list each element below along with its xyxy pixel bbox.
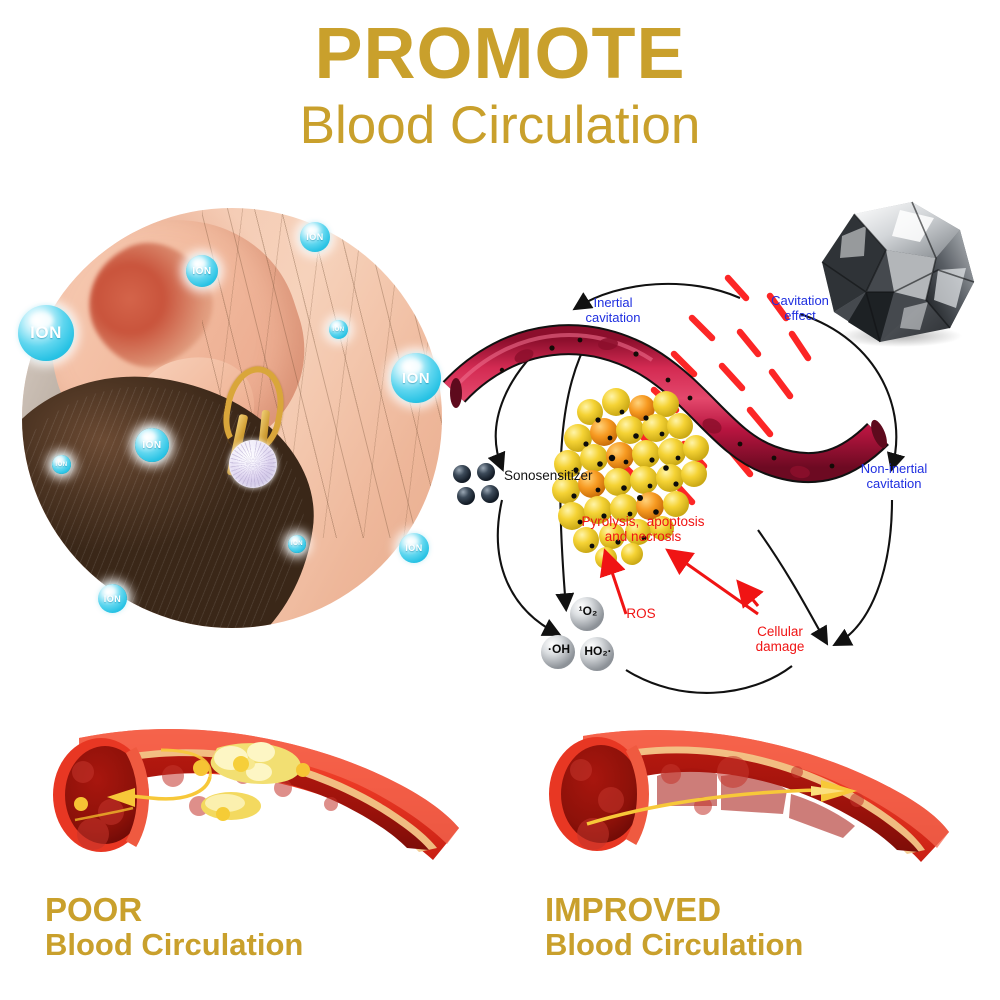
page-title: PROMOTE Blood Circulation: [0, 18, 1000, 157]
ion-bubble-label: ION: [142, 440, 161, 451]
title-subtitle: Blood Circulation: [0, 96, 1000, 157]
ion-bubble: ION: [288, 535, 306, 553]
ion-bubble-label: ION: [192, 266, 211, 277]
photo-content: [22, 208, 442, 628]
ion-bubble-label: ION: [104, 594, 122, 604]
ion-bubble-label: ION: [55, 462, 67, 468]
sonosensitizer-particles: [453, 463, 499, 505]
ion-bubble: ION: [329, 320, 348, 339]
ear-earring-photo: [22, 208, 442, 628]
ion-bubble-label: ION: [402, 370, 430, 387]
label-sonosensitizer: Sonosensitizer: [504, 468, 630, 483]
ion-bubble: ION: [391, 353, 441, 403]
ion-bubble-label: ION: [405, 543, 423, 553]
molecule-hydroperoxyl: HO₂·: [578, 645, 618, 658]
ion-bubble-label: ION: [332, 327, 344, 333]
infographic-canvas: PROMOTE Blood Circulation IONIONIONIONIO…: [0, 0, 1000, 1000]
ion-bubble-label: ION: [30, 323, 62, 343]
ion-bubble: ION: [98, 584, 127, 613]
ion-bubble: ION: [52, 455, 71, 474]
ion-bubble: ION: [186, 255, 218, 287]
molecule-hydroxyl: ·OH: [541, 643, 577, 656]
improved-circulation-vessel: [525, 702, 955, 882]
label-cavitation-effect: Cavitationeffect: [750, 294, 850, 323]
caption-improved-strong: IMPROVED: [545, 893, 803, 928]
poor-circulation-vessel: [35, 702, 465, 882]
ion-bubble: ION: [300, 222, 330, 252]
caption-poor: POOR Blood Circulation: [45, 893, 303, 962]
earring: [207, 366, 297, 494]
label-ros: ROS: [616, 606, 666, 621]
ion-bubble: ION: [399, 533, 429, 563]
caption-improved-normal: Blood Circulation: [545, 928, 803, 963]
label-inertial-cavitation: Inertialcavitation: [563, 296, 663, 325]
label-pyrolysis-apoptosis-necrosis: Pyrolysis, apoptosisand necrosis: [548, 514, 738, 544]
title-main: PROMOTE: [0, 18, 1000, 90]
sonodynamic-cavitation-diagram: Inertialcavitation Cavitationeffect Non-…: [440, 262, 960, 712]
caption-poor-strong: POOR: [45, 893, 303, 928]
earring-gem: [229, 440, 277, 488]
caption-poor-normal: Blood Circulation: [45, 928, 303, 963]
label-non-inertial-cavitation: Non-inertialcavitation: [838, 462, 950, 491]
label-cellular-damage: Cellulardamage: [730, 624, 830, 654]
caption-improved: IMPROVED Blood Circulation: [545, 893, 803, 962]
ion-bubble: ION: [18, 305, 74, 361]
ion-bubble-label: ION: [306, 232, 324, 242]
ion-bubble: ION: [135, 428, 169, 462]
ion-bubble-label: ION: [291, 541, 303, 547]
molecule-singlet-oxygen: ¹O₂: [570, 605, 606, 618]
